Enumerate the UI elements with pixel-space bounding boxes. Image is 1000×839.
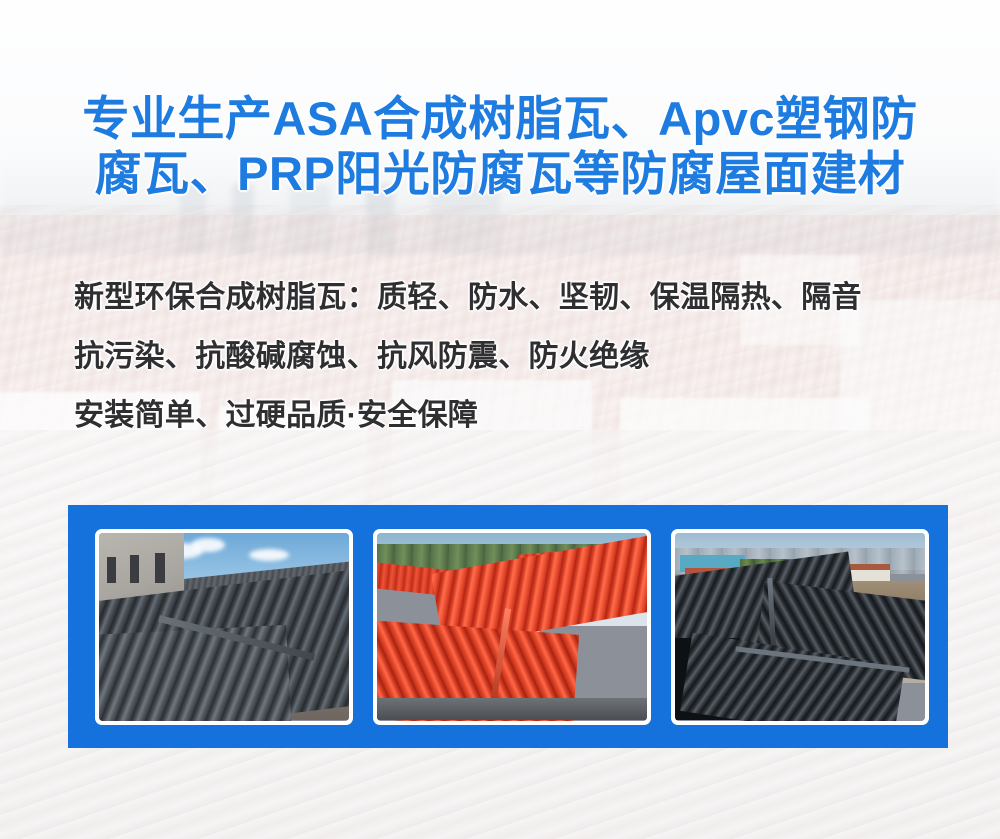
photo-frame — [99, 533, 349, 721]
window-shape — [155, 553, 165, 583]
photo-gallery-panel — [68, 505, 948, 748]
gallery-photo-red-resin-tile-roof[interactable] — [373, 529, 651, 725]
gallery-photo-dark-grey-tile-roof[interactable] — [671, 529, 929, 725]
cloud-shape — [249, 549, 289, 561]
photo-frame — [675, 533, 925, 721]
promo-banner: 专业生产ASA合成树脂瓦、Apvc塑钢防 腐瓦、PRP阳光防腐瓦等防腐屋面建材 … — [0, 0, 1000, 839]
gallery-photo-grey-resin-tile-roof[interactable] — [95, 529, 353, 725]
window-shape — [107, 557, 116, 583]
grey-tile-roof-surface-lower — [99, 625, 292, 720]
window-shape — [130, 555, 139, 583]
photo-frame — [377, 533, 647, 721]
cloud-shape — [191, 538, 225, 552]
roof-gutter — [377, 698, 647, 721]
